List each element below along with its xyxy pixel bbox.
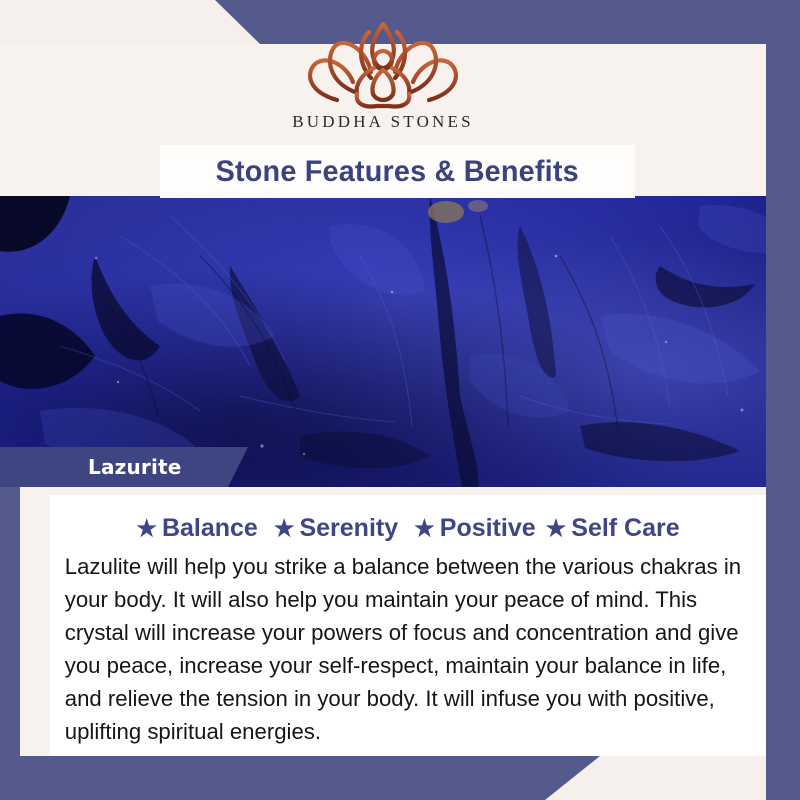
star-icon: ★ xyxy=(546,517,567,540)
star-icon: ★ xyxy=(274,517,295,540)
lotus-meditation-icon xyxy=(299,18,467,110)
content-panel: ★ Balance ★ Serenity ★ Positive ★ Self C… xyxy=(50,495,766,756)
frame-bottom-band xyxy=(0,756,800,800)
page-title-text: Stone Features & Benefits xyxy=(216,155,579,189)
stone-info-poster: BUDDHA STONES Stone Features & Benefits xyxy=(0,0,800,800)
keyword-item-self-care: ★ Self Care xyxy=(546,514,680,543)
stone-description: Lazulite will help you strike a balance … xyxy=(50,550,755,748)
keyword-label: Self Care xyxy=(571,514,679,543)
keyword-label: Balance xyxy=(162,514,258,543)
keyword-label: Positive xyxy=(440,514,536,543)
page-title: Stone Features & Benefits xyxy=(160,145,635,198)
star-icon: ★ xyxy=(414,517,435,540)
brand-logo: BUDDHA STONES xyxy=(0,18,766,144)
keyword-list: ★ Balance ★ Serenity ★ Positive ★ Self C… xyxy=(50,495,766,543)
stone-name-badge: Lazurite xyxy=(0,447,248,487)
frame-left-band xyxy=(0,487,20,800)
keyword-item-balance: ★ Balance xyxy=(136,514,258,543)
keyword-label: Serenity xyxy=(299,514,398,543)
stone-name-text: Lazurite xyxy=(88,455,182,479)
keyword-item-serenity: ★ Serenity xyxy=(274,514,398,543)
keyword-item-positive: ★ Positive xyxy=(414,514,536,543)
stone-image xyxy=(0,196,800,487)
star-icon: ★ xyxy=(136,517,157,540)
brand-name: BUDDHA STONES xyxy=(292,112,474,132)
frame-right-band xyxy=(766,0,800,800)
